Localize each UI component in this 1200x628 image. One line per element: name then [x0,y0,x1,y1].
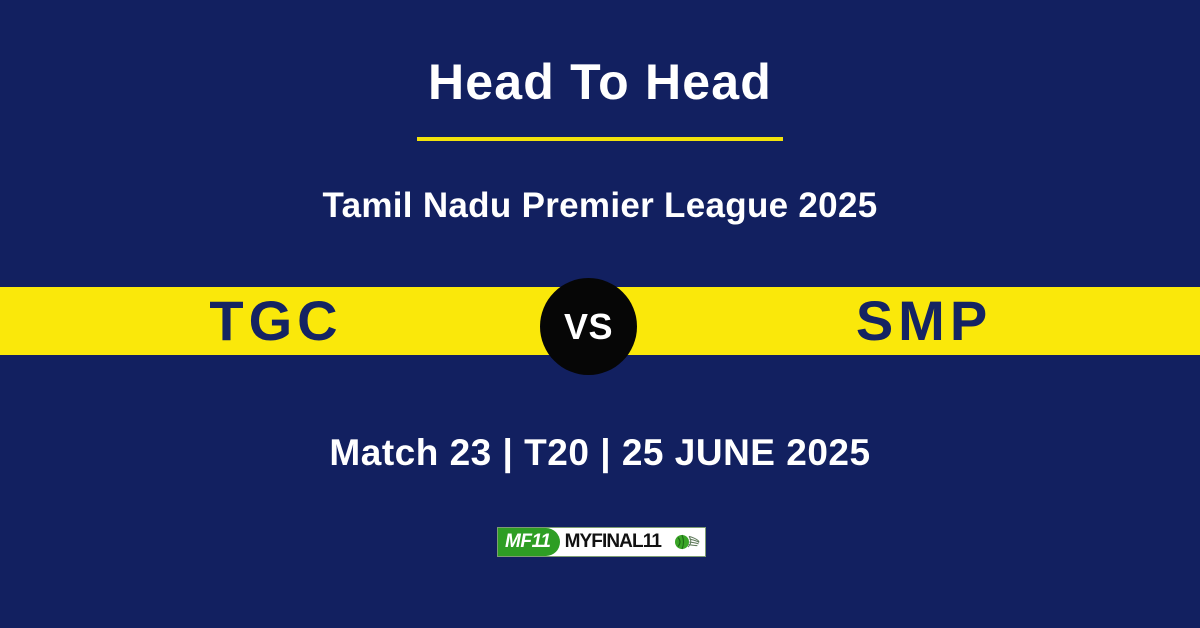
brand-mark-mf11: MF11 [498,528,560,556]
cricket-ball-icon [674,528,705,556]
title-underline-rule [417,137,783,141]
brand-logo[interactable]: MF11 MYFINAL11 [497,527,706,557]
team-code-left: TGC [0,293,600,349]
vs-badge: VS [540,278,637,375]
brand-name-myfinal11: MYFINAL11 [560,528,674,556]
head-to-head-banner: Head To Head Tamil Nadu Premier League 2… [0,0,1200,628]
page-title: Head To Head [0,56,1200,109]
team-code-right: SMP [600,293,1200,349]
match-details: Match 23 | T20 | 25 JUNE 2025 [0,432,1200,474]
tournament-name: Tamil Nadu Premier League 2025 [0,186,1200,226]
title-block: Head To Head [0,56,1200,141]
